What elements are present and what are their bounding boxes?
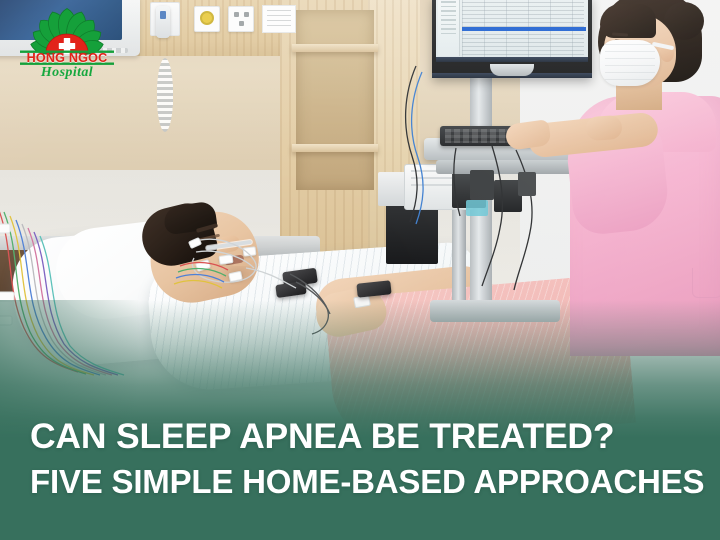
power-outlet-hole — [239, 21, 244, 26]
headline-line-2: FIVE SIMPLE HOME-BASED APPROACHES — [30, 463, 698, 502]
monitor-stand-neck — [490, 64, 534, 76]
monitor-side-pane — [438, 0, 460, 56]
banner-root: CAN SLEEP APNEA BE TREATED? FIVE SIMPLE … — [0, 0, 720, 540]
nurse-call-indicator-icon — [160, 11, 166, 19]
power-outlet-hole — [244, 12, 249, 17]
shelf-board-upper — [292, 44, 378, 52]
wall-information-card — [262, 5, 296, 33]
monitor-highlighted-row — [462, 27, 586, 31]
head-electrode-wires — [150, 226, 350, 366]
nurse-call-coiled-cord — [152, 36, 178, 154]
logo-primary-text: HONG NGOC — [27, 51, 108, 65]
workstation-monitor-screen — [436, 0, 588, 62]
headline-block: CAN SLEEP APNEA BE TREATED? FIVE SIMPLE … — [30, 416, 698, 502]
nurse-face-mask — [600, 40, 660, 86]
nurse-hand-on-mouse — [585, 115, 623, 141]
headline-line-1: CAN SLEEP APNEA BE TREATED? — [30, 416, 698, 456]
power-outlet — [228, 6, 254, 32]
power-outlet-hole — [234, 12, 239, 17]
logo-name-band: HONG NGOC — [14, 50, 120, 65]
cart-cables — [396, 60, 586, 310]
gas-outlet-ring-icon — [200, 11, 214, 25]
shelf-board-lower — [292, 144, 378, 152]
logo-secondary-text: Hospital — [41, 65, 93, 81]
monitor-taskbar-strip — [436, 57, 588, 62]
logo-script-band: Hospital — [14, 64, 120, 82]
wooden-shelf-niche — [296, 10, 374, 190]
hospital-logo[interactable]: HONG NGOC Hospital — [14, 6, 120, 84]
nurse-hair-front — [600, 4, 656, 38]
nurse-uniform-pocket — [692, 268, 720, 298]
